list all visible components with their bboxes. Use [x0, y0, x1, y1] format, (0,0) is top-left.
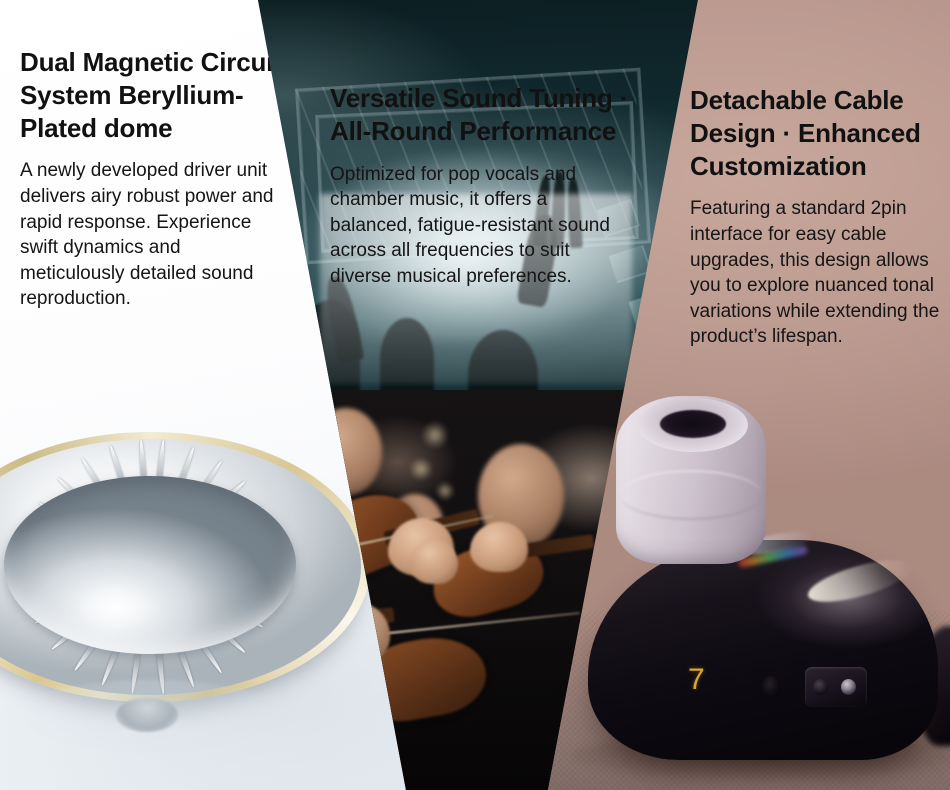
driver-base-post [116, 698, 178, 732]
earphone-channel-marking: 7 [688, 663, 705, 697]
two-pin-connector-socket [805, 667, 867, 707]
earphone-vent-hole [762, 676, 780, 698]
product-feature-infographic: Dual Magnetic Circuit System Beryllium-P… [0, 0, 950, 790]
speaker-driver-dome-image [0, 432, 370, 732]
panel-3-text-block: Detachable Cable Design · Enhanced Custo… [690, 84, 942, 350]
panel-1-body: A newly developed driver unit delivers a… [20, 158, 288, 312]
driver-reflection [0, 680, 346, 790]
panel-2-text-block: Versatile Sound Tuning · All-Round Perfo… [330, 82, 630, 290]
panel-1-heading: Dual Magnetic Circuit System Beryllium-P… [20, 46, 288, 144]
panel-1-text-block: Dual Magnetic Circuit System Beryllium-P… [20, 46, 288, 312]
eartip-crease [620, 470, 762, 520]
driver-center-dome [4, 476, 296, 654]
panel-2-body: Optimized for pop vocals and chamber mus… [330, 162, 630, 290]
pin-hole-right [841, 679, 856, 695]
panel-2-heading: Versatile Sound Tuning · All-Round Perfo… [330, 82, 630, 148]
pin-hole-left [813, 679, 828, 695]
panel-3-heading: Detachable Cable Design · Enhanced Custo… [690, 84, 942, 182]
panel-3-body: Featuring a standard 2pin interface for … [690, 196, 942, 350]
eartip-sound-bore [660, 410, 726, 438]
